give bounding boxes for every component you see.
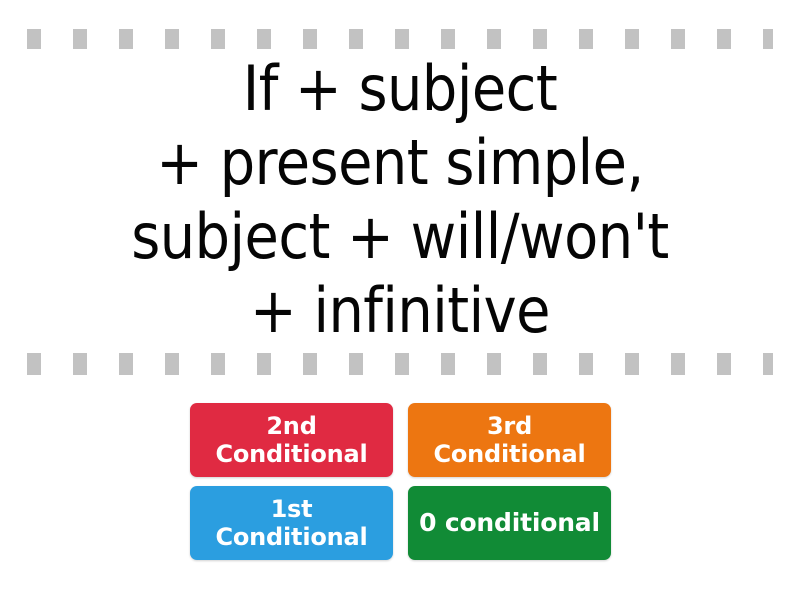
answer-option-3rd-conditional[interactable]: 3rd Conditional <box>408 403 611 477</box>
answer-option-2nd-conditional[interactable]: 2nd Conditional <box>190 403 393 477</box>
quiz-card: If + subject + present simple, subject +… <box>0 0 800 600</box>
perforation-rule-bottom <box>0 353 800 375</box>
answers-grid: 2nd Conditional 3rd Conditional 1st Cond… <box>190 403 611 560</box>
prompt-area: If + subject + present simple, subject +… <box>0 52 800 348</box>
answer-option-1st-conditional[interactable]: 1st Conditional <box>190 486 393 560</box>
prompt-text: If + subject + present simple, subject +… <box>20 52 780 348</box>
perforation-dashes-top <box>27 29 773 49</box>
perforation-rule-top <box>0 29 800 49</box>
answer-option-0-conditional[interactable]: 0 conditional <box>408 486 611 560</box>
perforation-dashes-bottom <box>27 353 773 375</box>
